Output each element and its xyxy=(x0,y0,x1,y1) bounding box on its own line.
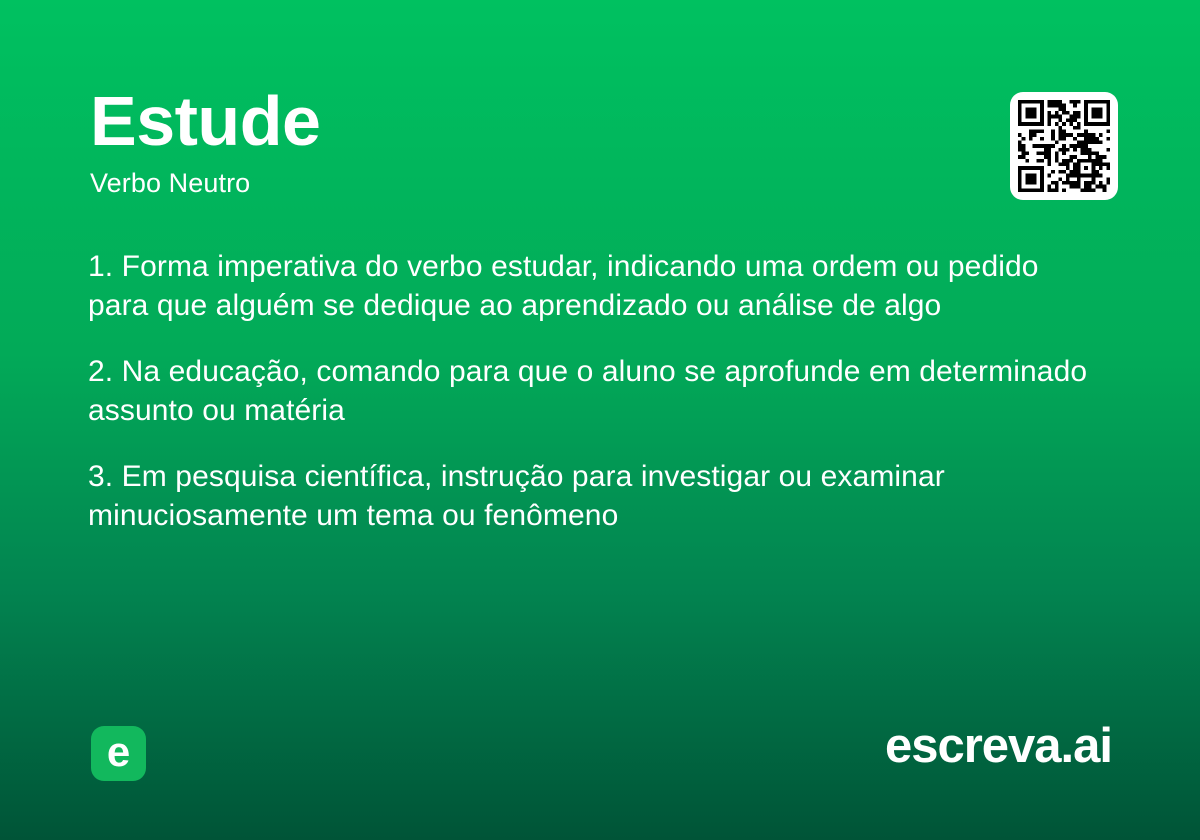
definition-item: 3. Em pesquisa científica, instrução par… xyxy=(88,458,1100,535)
dictionary-card: Estude Verbo Neutro 1. Forma imperativa … xyxy=(0,0,1200,840)
card-header: Estude Verbo Neutro xyxy=(90,86,970,197)
brand-wordmark: escreva.ai xyxy=(885,722,1112,771)
brand-logo-icon[interactable]: e xyxy=(91,726,146,781)
definition-list: 1. Forma imperativa do verbo estudar, in… xyxy=(88,248,1100,535)
word-class-label: Verbo Neutro xyxy=(90,170,970,197)
qr-code[interactable] xyxy=(1010,92,1118,200)
definition-item: 2. Na educação, comando para que o aluno… xyxy=(88,353,1100,430)
brand-logo-letter: e xyxy=(107,731,130,773)
page-title: Estude xyxy=(90,86,970,156)
qr-code-image xyxy=(1018,100,1110,192)
definition-item: 1. Forma imperativa do verbo estudar, in… xyxy=(88,248,1100,325)
